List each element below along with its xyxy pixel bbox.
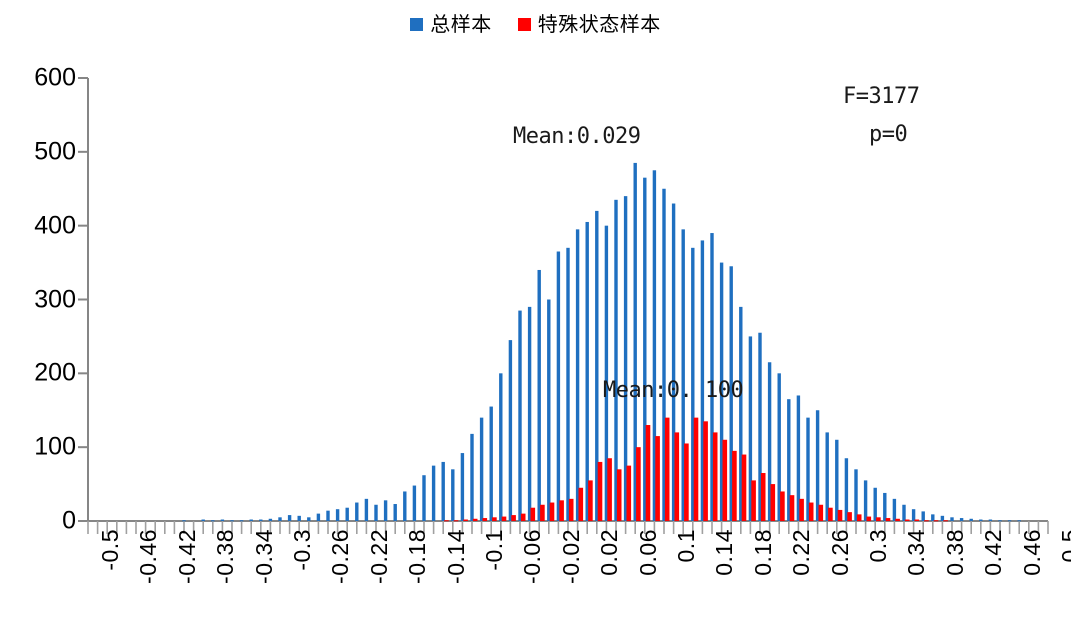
- bar-total-sample: [221, 520, 224, 521]
- bar-total-sample: [912, 509, 915, 521]
- bar-special-state-sample: [492, 517, 497, 521]
- bar-total-sample: [989, 520, 992, 521]
- annotation-f-statistic: F=3177: [843, 84, 919, 109]
- bar-total-sample: [470, 434, 473, 521]
- bar-special-state-sample: [569, 499, 574, 521]
- bar-total-sample: [490, 407, 493, 521]
- bar-special-state-sample: [934, 520, 939, 521]
- bar-total-sample: [893, 499, 896, 521]
- bar-special-state-sample: [867, 517, 872, 521]
- x-axis-tick-label: -0.14: [443, 529, 470, 584]
- annotation-mean-special: Mean:0. 100: [603, 378, 743, 403]
- bar-special-state-sample: [828, 508, 833, 521]
- bar-total-sample: [518, 311, 521, 521]
- bar-total-sample: [259, 520, 262, 521]
- x-axis-tick-label: -0.42: [174, 529, 201, 584]
- bar-total-sample: [979, 520, 982, 521]
- bar-total-sample: [269, 519, 272, 521]
- bar-special-state-sample: [703, 421, 708, 521]
- bar-special-state-sample: [847, 512, 852, 521]
- bar-special-state-sample: [799, 499, 804, 521]
- bar-special-state-sample: [444, 520, 449, 521]
- bar-total-sample: [394, 504, 397, 521]
- y-axis-tick-label: 200: [34, 359, 76, 388]
- y-axis-tick-label: 600: [34, 64, 76, 93]
- bar-total-sample: [931, 514, 934, 521]
- bar-total-sample: [499, 373, 502, 521]
- annotation-p-value: p=0: [869, 122, 907, 147]
- bar-total-sample: [864, 480, 867, 521]
- x-axis-tick-label: 0.26: [827, 529, 854, 576]
- bar-special-state-sample: [790, 495, 795, 521]
- bar-total-sample: [422, 475, 425, 521]
- bar-special-state-sample: [540, 505, 545, 521]
- x-axis-tick-label: 0.22: [788, 529, 815, 576]
- bar-special-state-sample: [454, 520, 459, 521]
- bar-special-state-sample: [732, 451, 737, 521]
- bar-special-state-sample: [838, 510, 843, 521]
- bar-special-state-sample: [905, 520, 910, 521]
- bar-total-sample: [307, 517, 310, 521]
- bar-special-state-sample: [943, 520, 948, 521]
- bar-special-state-sample: [511, 515, 516, 521]
- bar-special-state-sample: [924, 520, 929, 521]
- bar-total-sample: [557, 252, 560, 521]
- bar-special-state-sample: [809, 503, 814, 521]
- bar-total-sample: [586, 222, 589, 521]
- bar-special-state-sample: [895, 519, 900, 521]
- bar-total-sample: [845, 458, 848, 521]
- x-axis-tick-label: -0.26: [327, 529, 354, 584]
- x-axis-tick-label: 0.06: [635, 529, 662, 576]
- x-axis-tick-label: -0.1: [481, 529, 508, 571]
- x-axis-tick-label: 0.34: [903, 529, 930, 576]
- bar-special-state-sample: [463, 520, 468, 521]
- bar-total-sample: [346, 508, 349, 521]
- bar-total-sample: [960, 518, 963, 521]
- x-axis-tick-label: -0.34: [251, 529, 278, 584]
- bar-special-state-sample: [876, 517, 881, 521]
- bar-total-sample: [874, 488, 877, 521]
- bar-total-sample: [970, 519, 973, 521]
- bar-special-state-sample: [607, 458, 612, 521]
- x-axis-tick-label: -0.18: [404, 529, 431, 584]
- x-axis-tick-label: 0.18: [750, 529, 777, 576]
- bar-special-state-sample: [550, 503, 555, 521]
- bar-special-state-sample: [559, 500, 564, 521]
- x-axis-tick-label: 0.14: [711, 529, 738, 576]
- bar-special-state-sample: [617, 469, 622, 521]
- x-axis-tick-label: 0.3: [865, 529, 892, 562]
- x-axis-tick-label: 0.42: [980, 529, 1007, 576]
- bar-special-state-sample: [780, 491, 785, 521]
- bar-special-state-sample: [723, 440, 728, 521]
- x-axis-tick-label: -0.06: [519, 529, 546, 584]
- x-axis-tick-labels: -0.5-0.46-0.42-0.38-0.34-0.3-0.26-0.22-0…: [0, 529, 1071, 624]
- bar-total-sample: [326, 511, 329, 521]
- bar-total-sample: [202, 520, 205, 521]
- bar-total-sample: [288, 515, 291, 521]
- bar-special-state-sample: [521, 514, 526, 521]
- bar-special-state-sample: [636, 447, 641, 521]
- bar-total-sample: [230, 520, 233, 521]
- bar-special-state-sample: [675, 432, 680, 521]
- bar-total-sample: [182, 520, 185, 521]
- bar-total-sample: [403, 491, 406, 521]
- bar-total-sample: [250, 520, 253, 521]
- bar-total-sample: [547, 300, 550, 522]
- x-axis-tick-label: 0.46: [1019, 529, 1046, 576]
- bar-total-sample: [317, 514, 320, 521]
- bar-special-state-sample: [915, 520, 920, 521]
- bar-total-sample: [432, 466, 435, 521]
- bar-special-state-sample: [598, 462, 603, 521]
- y-axis-tick-label: 100: [34, 433, 76, 462]
- bar-total-sample: [298, 516, 301, 521]
- bar-total-sample: [374, 505, 377, 521]
- bar-special-state-sample: [579, 488, 584, 521]
- x-axis-tick-label: -0.38: [212, 529, 239, 584]
- bar-special-state-sample: [742, 455, 747, 521]
- bar-total-sample: [902, 505, 905, 521]
- bar-special-state-sample: [684, 443, 689, 521]
- y-axis-tick-label: 500: [34, 137, 76, 166]
- x-axis-tick-label: -0.22: [366, 529, 393, 584]
- bar-total-sample: [1018, 520, 1021, 521]
- bar-total-sample: [941, 516, 944, 521]
- bar-special-state-sample: [531, 508, 536, 521]
- bar-total-sample: [480, 418, 483, 521]
- bar-special-state-sample: [819, 505, 824, 521]
- bar-special-state-sample: [886, 518, 891, 521]
- bar-special-state-sample: [655, 436, 660, 521]
- bar-total-sample: [1008, 520, 1011, 521]
- bar-total-sample: [816, 410, 819, 521]
- bar-total-sample: [365, 499, 368, 521]
- bar-special-state-sample: [473, 519, 478, 521]
- bar-special-state-sample: [761, 473, 766, 521]
- bar-special-state-sample: [588, 480, 593, 521]
- bar-special-state-sample: [771, 484, 776, 521]
- bar-special-state-sample: [713, 432, 718, 521]
- bar-total-sample: [566, 248, 569, 521]
- x-axis-tick-label: -0.5: [97, 529, 124, 571]
- annotation-mean-total: Mean:0.029: [513, 124, 640, 149]
- y-axis-tick-label: 400: [34, 211, 76, 240]
- bar-special-state-sample: [483, 518, 488, 521]
- bar-total-sample: [461, 453, 464, 521]
- bar-total-sample: [576, 229, 579, 521]
- bar-total-sample: [922, 511, 925, 521]
- bar-total-sample: [538, 270, 541, 521]
- bar-total-sample: [854, 469, 857, 521]
- bar-special-state-sample: [694, 418, 699, 521]
- bar-total-sample: [950, 517, 953, 521]
- bar-total-sample: [442, 462, 445, 521]
- bar-total-sample: [240, 520, 243, 521]
- x-axis-tick-label: -0.46: [135, 529, 162, 584]
- bar-total-sample: [998, 520, 1001, 521]
- x-axis-tick-label: 0.1: [673, 529, 700, 562]
- y-axis-tick-label: 300: [34, 285, 76, 314]
- bar-total-sample: [413, 486, 416, 521]
- bar-special-state-sample: [646, 425, 651, 521]
- bar-total-sample: [278, 517, 281, 521]
- x-axis-tick-label: 0.38: [942, 529, 969, 576]
- bar-total-sample: [336, 509, 339, 521]
- x-axis-tick-label: 0.02: [596, 529, 623, 576]
- bar-total-sample: [355, 503, 358, 521]
- bar-special-state-sample: [751, 480, 756, 521]
- bar-special-state-sample: [627, 466, 632, 521]
- bar-total-sample: [384, 500, 387, 521]
- bar-special-state-sample: [665, 418, 670, 521]
- bar-total-sample: [835, 440, 838, 521]
- x-axis-tick-label: -0.3: [289, 529, 316, 571]
- bar-total-sample: [528, 307, 531, 521]
- bar-special-state-sample: [857, 514, 862, 521]
- x-axis-tick-label: -0.02: [558, 529, 585, 584]
- bar-total-sample: [211, 520, 214, 521]
- bar-total-sample: [509, 340, 512, 521]
- x-axis-tick-label: 0.5: [1057, 529, 1071, 562]
- bar-total-sample: [883, 493, 886, 521]
- bar-special-state-sample: [502, 517, 507, 521]
- bar-total-sample: [451, 469, 454, 521]
